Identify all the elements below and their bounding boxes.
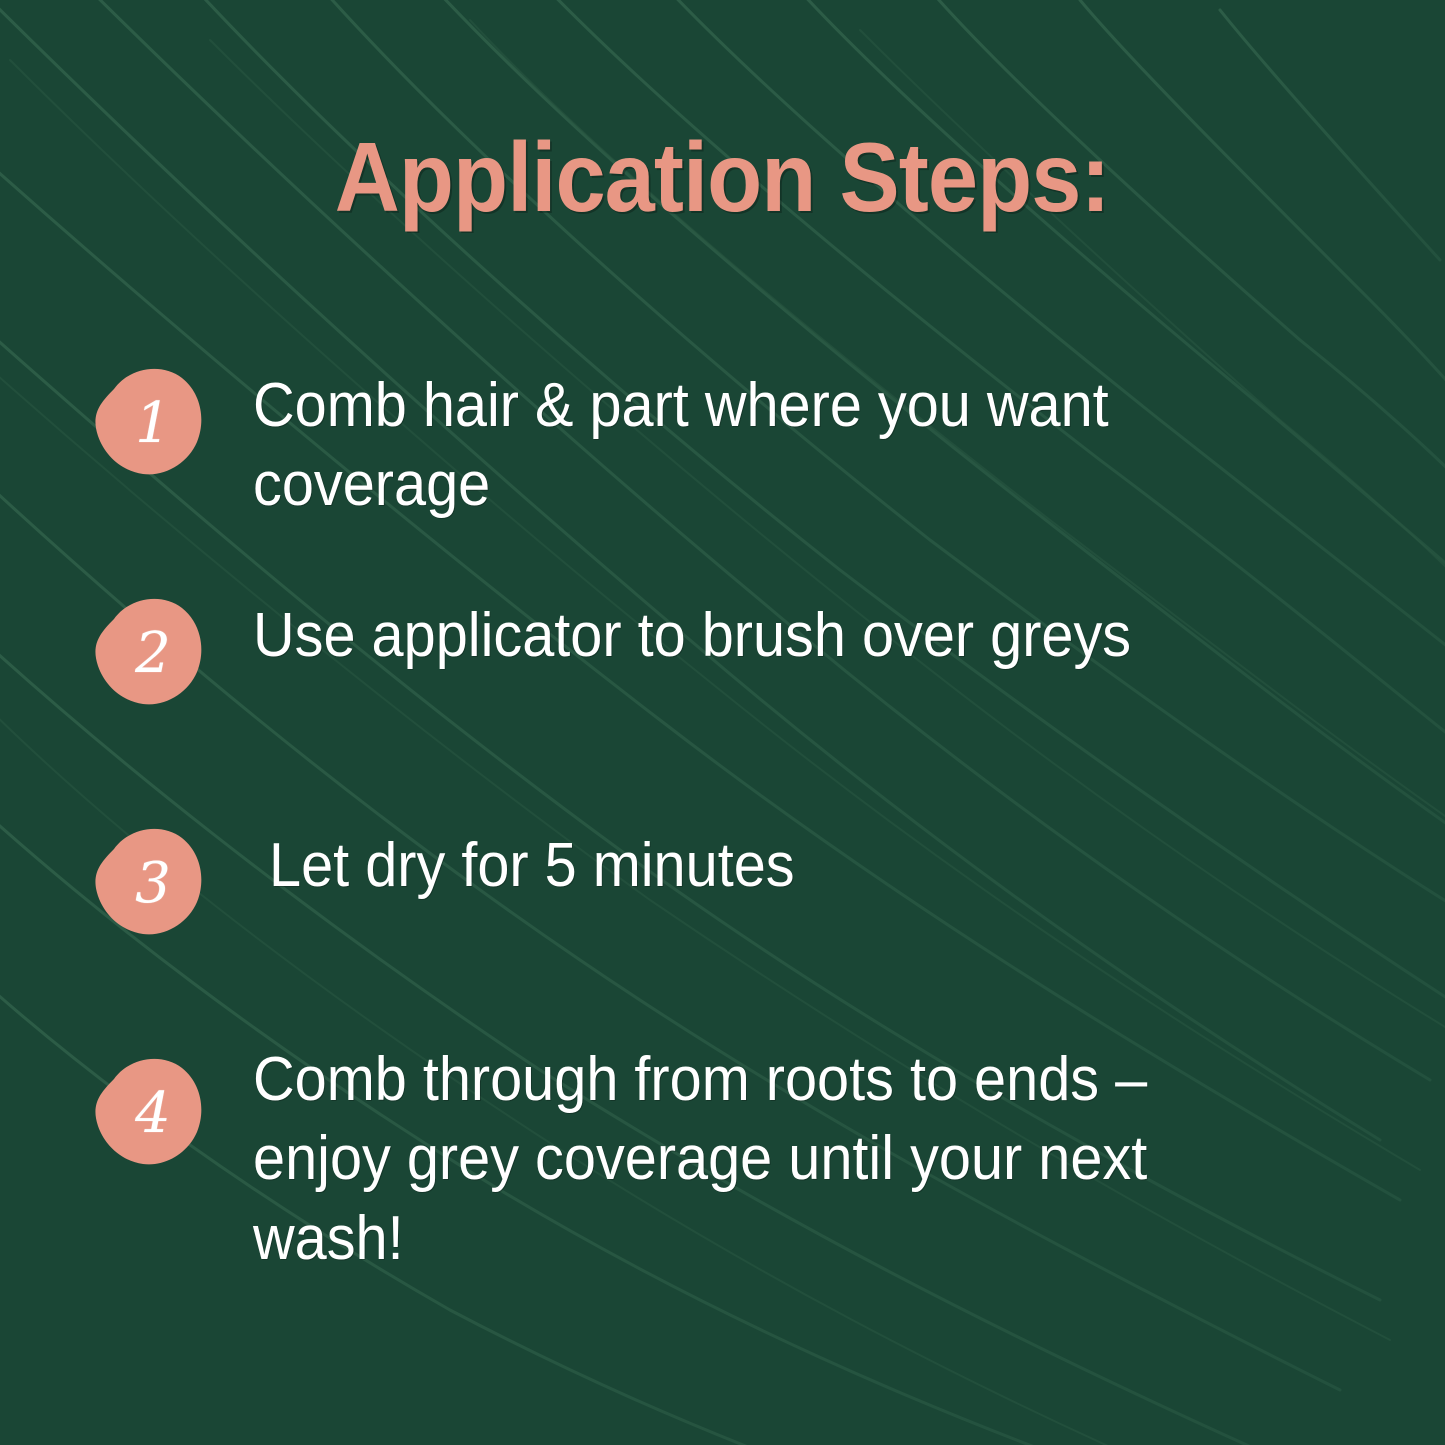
application-steps-graphic: Application Steps: 1 Comb hair & part wh…	[0, 0, 1445, 1445]
step-badge-2: 2	[93, 594, 205, 708]
step-badge-1: 1	[93, 364, 205, 478]
step-number: 3	[93, 824, 205, 938]
step-item: 1 Comb hair & part where you want covera…	[0, 348, 1445, 578]
step-description: Comb through from roots to ends – enjoy …	[253, 1040, 1296, 1278]
step-description: Comb hair & part where you want coverage	[253, 366, 1296, 525]
page-title: Application Steps:	[335, 126, 1110, 229]
step-badge-3: 3	[93, 824, 205, 938]
step-item: 2 Use applicator to brush over greys	[0, 578, 1445, 808]
step-number: 1	[93, 364, 205, 478]
step-description: Let dry for 5 minutes	[253, 826, 1296, 905]
step-description: Use applicator to brush over greys	[253, 596, 1296, 675]
step-item: 4 Comb through from roots to ends – enjo…	[0, 1038, 1445, 1268]
step-number: 2	[93, 594, 205, 708]
application-steps-list: 1 Comb hair & part where you want covera…	[0, 348, 1445, 1268]
step-item: 3 Let dry for 5 minutes	[0, 808, 1445, 1038]
step-badge-4: 4	[93, 1054, 205, 1168]
step-number: 4	[93, 1054, 205, 1168]
page-title-container: Application Steps:	[0, 126, 1445, 229]
